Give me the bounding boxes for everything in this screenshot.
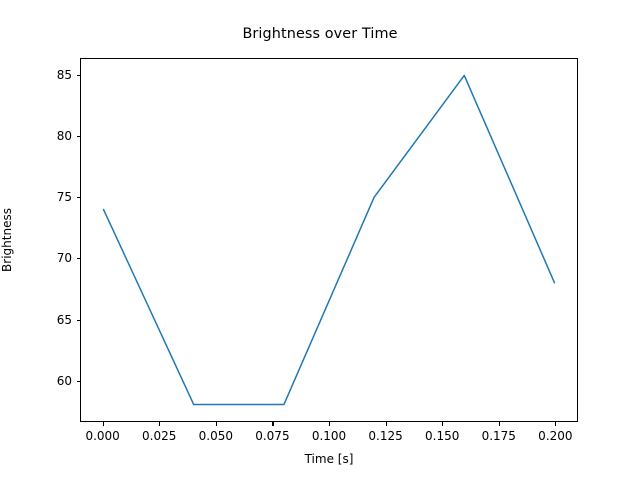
x-tick-label: 0.000 [85, 429, 119, 443]
y-tick-label: 75 [40, 190, 72, 204]
y-tick-label: 60 [40, 374, 72, 388]
x-tick-mark [103, 422, 104, 426]
y-tick-mark [77, 381, 81, 382]
x-tick-label: 0.200 [538, 429, 572, 443]
x-tick-mark [386, 422, 387, 426]
y-tick-label: 85 [40, 68, 72, 82]
x-tick-label: 0.175 [482, 429, 516, 443]
x-axis-label: Time [s] [80, 452, 578, 466]
x-tick-label: 0.050 [199, 429, 233, 443]
x-tick-mark [442, 422, 443, 426]
plot-axes-area [80, 58, 578, 422]
chart-title: Brightness over Time [0, 26, 640, 42]
x-tick-mark [555, 422, 556, 426]
figure-canvas: Brightness over Time 606570758085 0.0000… [0, 0, 640, 480]
x-tick-mark [272, 422, 273, 426]
x-tick-label: 0.025 [142, 429, 176, 443]
data-line-brightness [104, 75, 555, 404]
y-tick-mark [77, 136, 81, 137]
x-tick-label: 0.125 [368, 429, 402, 443]
y-tick-label: 80 [40, 129, 72, 143]
y-tick-mark [77, 258, 81, 259]
x-tick-label: 0.075 [255, 429, 289, 443]
x-tick-mark [329, 422, 330, 426]
y-tick-mark [77, 320, 81, 321]
x-tick-label: 0.150 [425, 429, 459, 443]
y-tick-label: 70 [40, 251, 72, 265]
line-series-svg [81, 59, 577, 421]
x-tick-mark [216, 422, 217, 426]
y-axis-label-text: Brightness [0, 208, 14, 272]
y-tick-label: 65 [40, 313, 72, 327]
x-tick-mark [159, 422, 160, 426]
y-tick-mark [77, 197, 81, 198]
x-tick-label: 0.100 [312, 429, 346, 443]
y-tick-mark [77, 75, 81, 76]
y-axis-label: Brightness [0, 208, 14, 272]
x-tick-mark [499, 422, 500, 426]
